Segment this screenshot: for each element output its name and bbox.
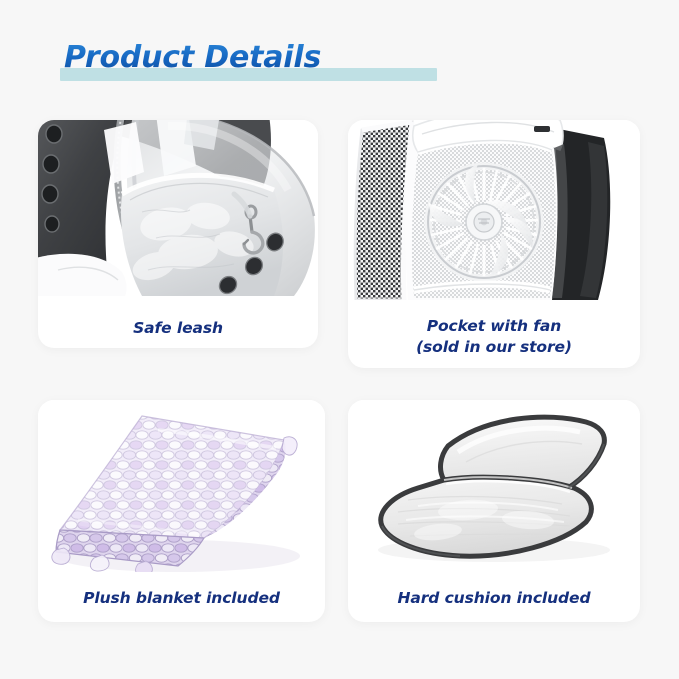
product-image-plush-blanket [38, 400, 325, 572]
product-card-plush-blanket[interactable]: Plush blanket included [38, 400, 325, 622]
caption-line-2: (sold in our store) [348, 337, 640, 358]
card-caption-safe-leash: Safe leash [38, 318, 318, 339]
caption-line-1: Plush blanket included [83, 589, 280, 607]
product-image-safe-leash [38, 120, 318, 296]
caption-line-1: Hard cushion included [398, 589, 591, 607]
product-image-hard-cushion [348, 400, 640, 572]
product-card-pocket-with-fan[interactable]: Pocket with fan (sold in our store) [348, 120, 640, 368]
product-card-hard-cushion[interactable]: Hard cushion included [348, 400, 640, 622]
card-caption-pocket-with-fan: Pocket with fan (sold in our store) [348, 316, 640, 358]
card-caption-hard-cushion: Hard cushion included [348, 588, 640, 609]
product-details-infographic: Product Details [0, 0, 679, 679]
card-caption-plush-blanket: Plush blanket included [38, 588, 325, 609]
product-image-pocket-with-fan [348, 120, 640, 300]
caption-line-1: Pocket with fan [427, 317, 561, 335]
caption-line-1: Safe leash [133, 319, 223, 337]
product-card-safe-leash[interactable]: Safe leash [38, 120, 318, 348]
page-header: Product Details [58, 40, 458, 90]
page-title: Product Details [64, 40, 321, 75]
